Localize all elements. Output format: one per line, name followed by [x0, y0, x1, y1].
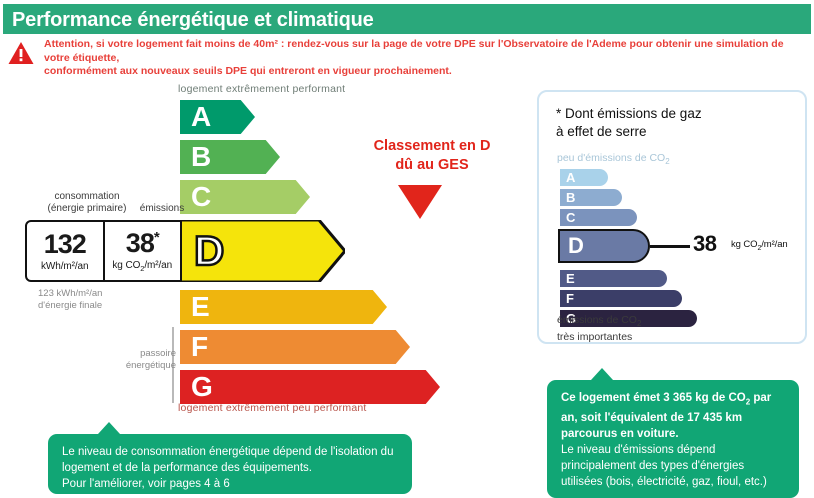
classement-line-2: dû au GES	[342, 156, 522, 175]
ges-bar-label-a: A	[566, 171, 575, 184]
ges-bar-label-c: C	[566, 211, 575, 224]
warning-text: Attention, si votre logement fait moins …	[44, 38, 804, 79]
ges-bar-b: B	[560, 189, 622, 206]
ges-value: 38	[693, 231, 716, 257]
ges-title: * Dont émissions de gaz à effet de serre	[556, 105, 796, 141]
page-title: Performance énergétique et climatique	[12, 5, 374, 35]
ges-bot-l2: très importantes	[557, 331, 641, 345]
ges-bar-label-b: B	[566, 191, 575, 204]
passoire-l1: passoire	[98, 348, 176, 360]
ges-title-l1: * Dont émissions de gaz	[556, 105, 796, 123]
classement-note: Classement en D dû au GES	[342, 137, 522, 175]
callout-consumption: Le niveau de consommation énergétique dé…	[48, 434, 412, 494]
callout-left-l1: Le niveau de consommation énergétique dé…	[62, 444, 398, 460]
ges-bar-f: F	[560, 290, 682, 307]
callout-right-l6: utilisées (bois, électricité, gaz, fioul…	[561, 474, 785, 490]
emission-value: 38*	[126, 230, 159, 257]
energy-bar-a: A	[180, 100, 255, 134]
energy-value-box: 132 kWh/m²/an 38* kg CO2/m²/an	[25, 220, 182, 282]
energy-bar-g: G	[180, 370, 440, 404]
callout-right-tip	[591, 368, 613, 380]
ges-bar-d: D	[558, 229, 650, 263]
energy-bar-f: F	[180, 330, 410, 364]
energy-bar-d: D	[180, 220, 345, 282]
emission-unit: kg CO2/m²/an	[112, 260, 172, 273]
callout-right-l2: an, soit l'équivalent de 17 435 km	[561, 410, 785, 426]
callout-right-l1: Ce logement émet 3 365 kg de CO2 par	[561, 390, 785, 410]
ges-bot-l1: émissions de CO2	[557, 314, 641, 331]
energy-bar-b: B	[180, 140, 280, 174]
ges-bar-label-d: D	[568, 235, 584, 257]
ges-title-l2: à effet de serre	[556, 123, 796, 141]
callout-right-l4: Le niveau d'émissions dépend	[561, 442, 785, 458]
energy-bar-label-d: D	[194, 230, 224, 272]
warning-line-1: Attention, si votre logement fait moins …	[44, 38, 804, 65]
ges-top-caption: peu d'émissions de CO2	[557, 152, 670, 166]
passoire-l2: énergétique	[98, 360, 176, 372]
consumption-cell: 132 kWh/m²/an	[27, 222, 105, 280]
label-emissions: émissions	[122, 203, 202, 214]
energy-bar-label-b: B	[191, 143, 211, 171]
ges-bar-c: C	[560, 209, 637, 226]
dpe-energy-label: Performance énergétique et climatique At…	[0, 0, 814, 498]
energy-bar-label-f: F	[191, 333, 208, 361]
label-consommation-l1: consommation	[27, 191, 147, 203]
energie-finale-l1: 123 kWh/m²/an	[38, 288, 102, 300]
callout-right-bold: Ce logement émet 3 365 kg de CO2 par an,…	[561, 390, 785, 442]
consumption-unit: kWh/m²/an	[41, 261, 88, 272]
energy-bar-e: E	[180, 290, 387, 324]
consumption-value: 132	[44, 231, 86, 258]
classement-line-1: Classement en D	[342, 137, 522, 156]
energy-bar-label-g: G	[191, 373, 213, 401]
warning-line-2: conformément aux nouveaux seuils DPE qui…	[44, 65, 804, 79]
energy-top-caption: logement extrêmement performant	[178, 83, 345, 95]
ges-bar-label-f: F	[566, 292, 574, 305]
ges-bar-e: E	[560, 270, 667, 287]
ges-bar-label-e: E	[566, 272, 575, 285]
callout-left-l3: Pour l'améliorer, voir pages 4 à 6	[62, 476, 398, 492]
passoire-label: passoire énergétique	[98, 348, 176, 372]
emission-cell: 38* kg CO2/m²/an	[105, 222, 181, 280]
warning-triangle-icon	[8, 41, 34, 65]
callout-left-tip	[98, 422, 120, 434]
ges-bottom-caption: émissions de CO2 très importantes	[557, 314, 641, 344]
down-triangle-icon	[398, 185, 442, 219]
energie-finale-l2: d'énergie finale	[38, 300, 102, 312]
ges-bar-a: A	[560, 169, 608, 186]
callout-left-l2: logement et de la performance des équipe…	[62, 460, 398, 476]
energy-bar-label-a: A	[191, 103, 211, 131]
energy-bar-label-c: C	[191, 183, 211, 211]
callout-emissions: Ce logement émet 3 365 kg de CO2 par an,…	[547, 380, 799, 498]
callout-right-l3: parcourus en voiture.	[561, 426, 785, 442]
ges-leader-line	[650, 245, 690, 248]
energy-bar-label-e: E	[191, 293, 210, 321]
energy-bar-c: C	[180, 180, 310, 214]
ges-unit: kg CO2/m²/an	[731, 239, 788, 252]
energie-finale-note: 123 kWh/m²/an d'énergie finale	[38, 288, 102, 311]
callout-right-l5: principalement des types d'énergies	[561, 458, 785, 474]
